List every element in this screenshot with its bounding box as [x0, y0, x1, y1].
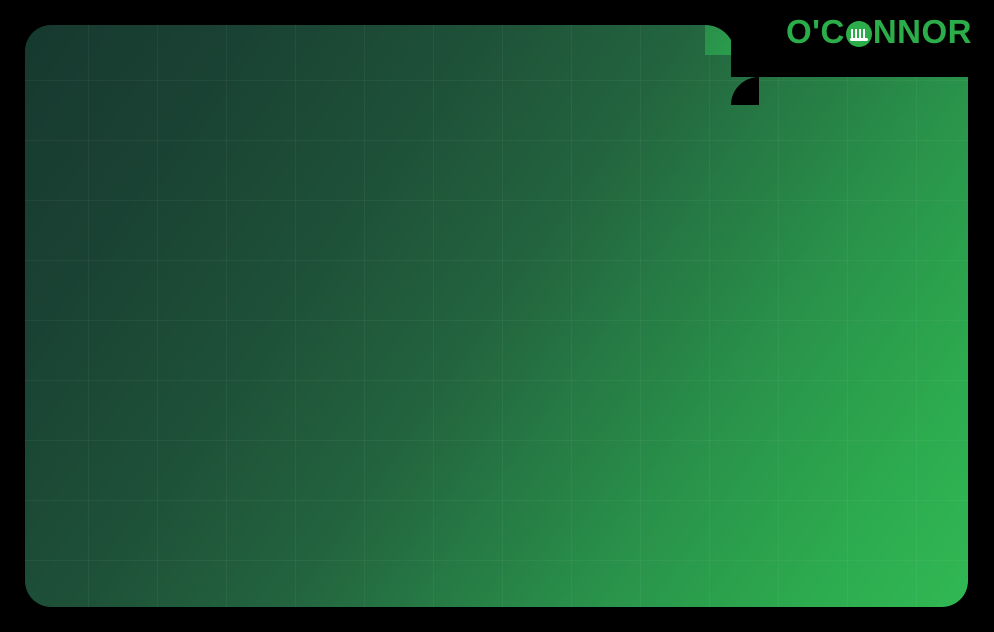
logo-text-right: NNOR	[873, 15, 972, 48]
background-grid	[25, 25, 968, 607]
building-circle-icon	[846, 21, 872, 47]
screenshot-root: O'C NNOR Increase % 109876543210 3.2%< $…	[0, 0, 994, 632]
logo-text-left: O'C	[786, 15, 845, 48]
oconnor-logo: O'C NNOR	[786, 14, 972, 48]
chart-card	[25, 25, 968, 607]
card-notch-corner-right	[731, 77, 759, 105]
